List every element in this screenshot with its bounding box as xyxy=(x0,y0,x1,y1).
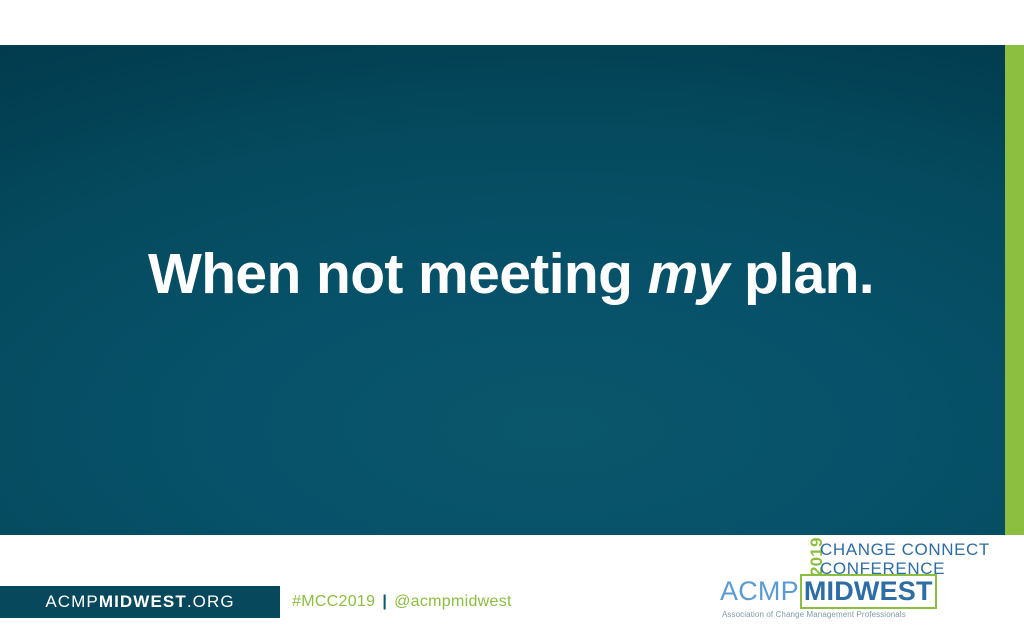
footer-url-suffix: .ORG xyxy=(187,592,235,611)
footer-url-bar: ACMPMIDWEST.ORG xyxy=(0,586,280,618)
footer-handle: @acmpmidwest xyxy=(394,593,512,610)
footer-hashtag: #MCC2019 xyxy=(292,593,375,610)
footer-separator: | xyxy=(375,593,394,610)
logo-tagline: Association of Change Management Profess… xyxy=(722,610,906,619)
logo-brand: ACMPMIDWEST xyxy=(720,576,937,606)
slide-title-prefix: When not meeting xyxy=(148,242,648,306)
slide-canvas: When not meeting my plan. ACMPMIDWEST.OR… xyxy=(0,0,1024,640)
accent-bar-right xyxy=(1005,45,1024,535)
slide-title: When not meeting my plan. xyxy=(148,243,948,306)
footer-social: #MCC2019|@acmpmidwest xyxy=(292,586,512,618)
logo-brand-prefix: ACMP xyxy=(720,576,799,606)
slide-title-emphasis: my xyxy=(648,242,729,306)
logo-conference-name: CHANGE CONNECT CONFERENCE xyxy=(820,540,990,578)
logo-brand-suffix: MIDWEST xyxy=(800,574,937,609)
conference-logo-lockup: 2019 CHANGE CONNECT CONFERENCE ACMPMIDWE… xyxy=(720,540,1012,612)
footer-url-bold: MIDWEST xyxy=(99,592,187,611)
footer-url-label: ACMPMIDWEST.ORG xyxy=(0,586,280,618)
logo-conference-line1: CHANGE CONNECT xyxy=(820,540,990,559)
slide-title-suffix: plan. xyxy=(729,242,874,306)
footer-url-prefix: ACMP xyxy=(45,592,99,611)
